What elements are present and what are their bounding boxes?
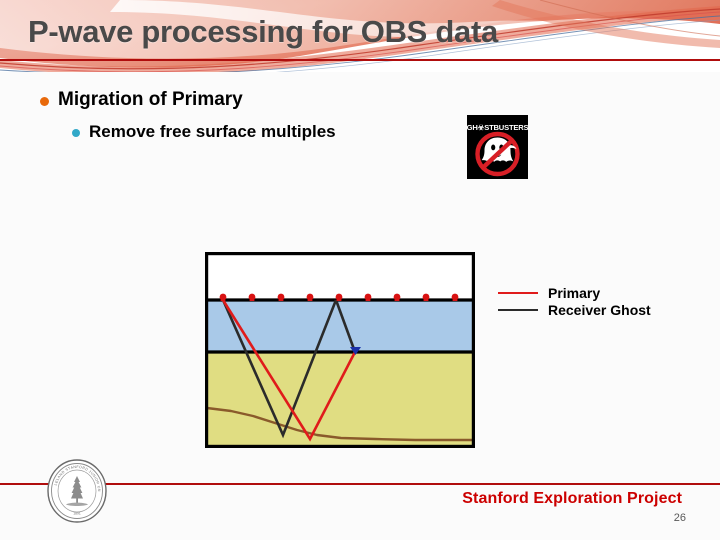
source-marker [220, 294, 227, 301]
bullet-list: Migration of Primary Remove free surface… [40, 88, 510, 143]
ghostbusters-wordmark: GH☣STBUSTERS [467, 123, 528, 132]
source-marker [394, 294, 401, 301]
source-marker [423, 294, 430, 301]
source-marker [365, 294, 372, 301]
page-title: P-wave processing for OBS data [28, 14, 498, 50]
bullet-label-level-2: Remove free surface multiples [89, 121, 336, 143]
ghostbusters-logo-image: GH☣STBUSTERS [467, 115, 528, 179]
legend-swatch-receiver-ghost [498, 309, 538, 311]
legend-item-receiver-ghost: Receiver Ghost [498, 301, 698, 318]
source-marker [307, 294, 314, 301]
obs-raypath-diagram [205, 252, 475, 448]
layer-sediment [205, 352, 475, 448]
title-divider-rule [0, 59, 720, 61]
source-marker [336, 294, 343, 301]
bullet-item-remove-free-surface-multiples: Remove free surface multiples [72, 121, 510, 143]
orange-dot-icon [40, 97, 49, 106]
footer-organization-label: Stanford Exploration Project [0, 490, 682, 508]
legend-label-primary: Primary [548, 285, 600, 301]
bullet-label-level-1: Migration of Primary [58, 88, 243, 112]
source-marker [278, 294, 285, 301]
legend-item-primary: Primary [498, 284, 698, 301]
diagram-legend: Primary Receiver Ghost [498, 284, 698, 318]
legend-swatch-primary [498, 292, 538, 294]
layer-air [205, 252, 475, 300]
page-number: 26 [0, 512, 686, 524]
legend-label-receiver-ghost: Receiver Ghost [548, 302, 651, 318]
source-marker [249, 294, 256, 301]
bullet-item-migration-of-primary: Migration of Primary [40, 88, 510, 112]
source-marker [452, 294, 459, 301]
footer-divider-rule [0, 483, 720, 485]
cyan-dot-icon [72, 129, 80, 137]
slide-canvas: P-wave processing for OBS data Migration… [0, 0, 720, 540]
